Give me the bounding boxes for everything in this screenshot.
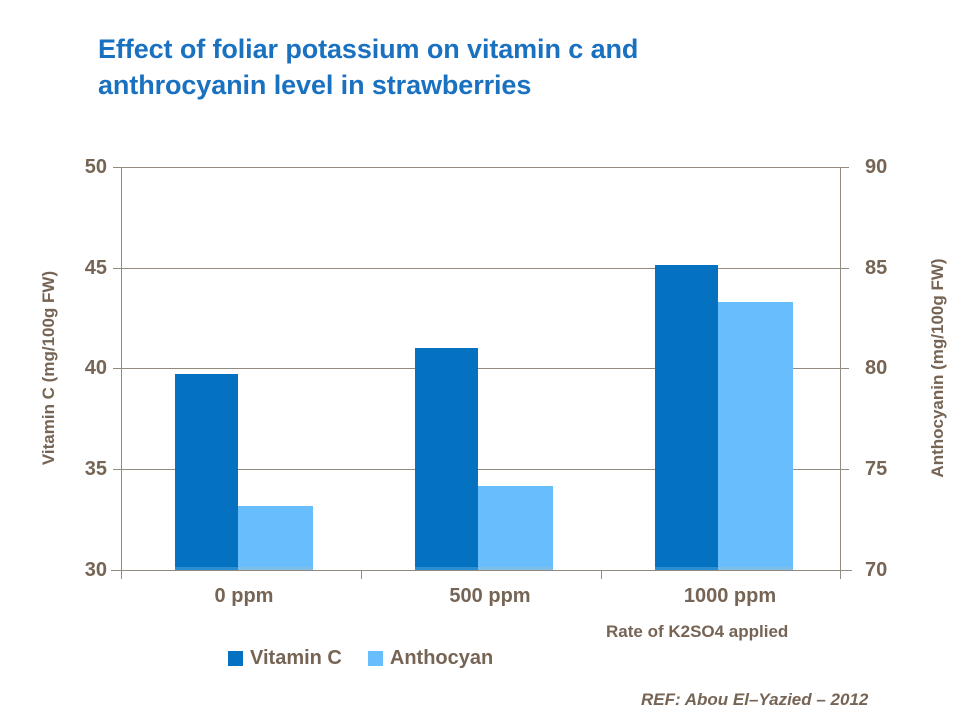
x-axis-baseline [111, 570, 852, 571]
x-tick-sep-0 [121, 570, 122, 579]
y-tick-left-35 [113, 469, 121, 470]
legend-swatch-icon-vitamin-c [228, 651, 243, 666]
x-category-label-2: 1000 ppm [684, 585, 776, 608]
bar-vitamin-c-1[interactable] [415, 348, 478, 570]
y-tick-right-85 [840, 268, 849, 269]
x-tick-sep-3 [840, 570, 841, 579]
reference-text: REF: Abou El–Yazied – 2012 [641, 690, 868, 710]
x-tick-sep-1 [361, 570, 362, 579]
y-label-left-0: 50 [47, 157, 107, 177]
y-tick-left-30 [113, 570, 121, 571]
y-tick-right-80 [840, 368, 849, 369]
x-axis-title: Rate of K2SO4 applied [606, 622, 788, 642]
gridline-50 [121, 167, 841, 168]
y-tick-right-75 [840, 469, 849, 470]
y-label-right-3: 75 [865, 459, 925, 479]
y-tick-right-70 [840, 570, 849, 571]
bar-anthocyan-0[interactable] [238, 506, 313, 570]
slide-canvas: Effect of foliar potassium on vitamin c … [0, 0, 960, 720]
x-category-label-1: 500 ppm [449, 585, 530, 608]
chart-plot-area: 50 45 40 35 30 90 85 80 75 70 0 ppm 500 … [121, 167, 841, 570]
legend-label-vitamin-c: Vitamin C [250, 648, 342, 668]
gridline-45 [121, 268, 841, 269]
y-label-right-0: 90 [865, 157, 925, 177]
y-tick-left-50 [113, 167, 121, 168]
y-axis-left-title: Vitamin C (mg/100g FW) [39, 271, 59, 465]
legend-label-anthocyan: Anthocyan [390, 648, 493, 668]
y-tick-right-90 [840, 167, 849, 168]
bar-vitamin-c-2[interactable] [655, 265, 718, 570]
chart-legend: Vitamin C Anthocyan [228, 648, 493, 668]
chart-title: Effect of foliar potassium on vitamin c … [98, 32, 818, 103]
y-label-left-4: 30 [47, 560, 107, 580]
bar-anthocyan-2[interactable] [718, 302, 793, 570]
legend-item-vitamin-c[interactable]: Vitamin C [228, 648, 342, 668]
x-tick-sep-2 [601, 570, 602, 579]
legend-item-anthocyan[interactable]: Anthocyan [368, 648, 493, 668]
y-tick-left-45 [113, 268, 121, 269]
x-category-label-0: 0 ppm [215, 585, 274, 608]
y-tick-left-40 [113, 368, 121, 369]
legend-swatch-icon-anthocyan [368, 651, 383, 666]
y-label-right-1: 85 [865, 258, 925, 278]
y-label-right-2: 80 [865, 358, 925, 378]
bar-vitamin-c-0[interactable] [175, 374, 238, 570]
y-axis-right-title: Anthocyanin (mg/100g FW) [928, 258, 948, 477]
bar-anthocyan-1[interactable] [478, 486, 553, 570]
y-label-right-4: 70 [865, 560, 925, 580]
